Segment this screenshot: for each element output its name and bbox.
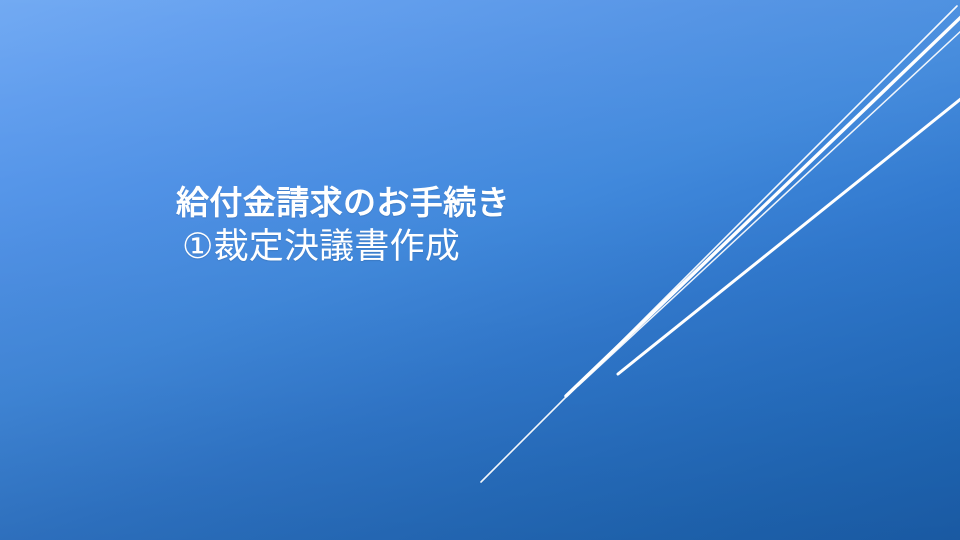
- streak-line-2-icon: [566, 16, 960, 396]
- streak-line-1-icon: [481, 6, 957, 482]
- streak-line-3-icon: [578, 30, 960, 386]
- streak-line-4-icon: [618, 98, 960, 374]
- slide-title-line-1: 給付金請求のお手続き: [176, 186, 510, 220]
- presentation-slide: 給付金請求のお手続き ①裁定決議書作成: [0, 0, 960, 540]
- slide-title-block: 給付金請求のお手続き ①裁定決議書作成: [176, 186, 510, 264]
- diagonal-streak-lines-group: [0, 0, 960, 540]
- slide-title-line-2: ①裁定決議書作成: [182, 229, 510, 265]
